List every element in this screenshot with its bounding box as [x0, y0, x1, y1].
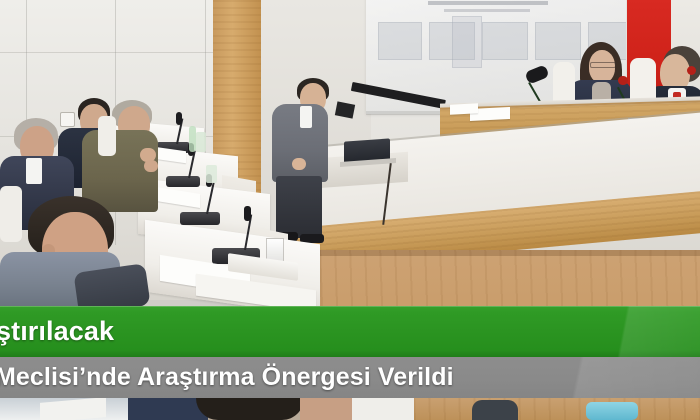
paper-stack — [450, 103, 478, 114]
presidium-woman-glasses — [590, 62, 616, 68]
desk-sliver — [352, 398, 414, 420]
desk-microphone-base — [166, 176, 200, 187]
slide-thumb — [378, 22, 422, 60]
skin-sliver — [300, 398, 352, 420]
chair-base-sliver — [472, 400, 518, 420]
blue-bag-sliver — [586, 402, 638, 420]
kicker-banner: ştırılacak — [0, 306, 700, 357]
wall-socket — [60, 112, 75, 127]
floor-sliver — [414, 398, 700, 420]
water-glass — [206, 165, 217, 183]
delegate-hair-sliver — [196, 398, 304, 420]
headline-banner: Meclisi’nde Araştırma Önergesi Verildi — [0, 357, 700, 398]
standing-man-hand — [292, 158, 306, 170]
slide-subtitle-bar — [444, 9, 530, 12]
news-photo-thumbnail: ştırılacak Meclisi’nde Araştırma Önerges… — [0, 0, 700, 420]
water-glass — [196, 132, 206, 152]
paper-sliver — [40, 398, 106, 420]
water-bottle — [189, 126, 196, 152]
desk-microphone-head — [176, 112, 182, 125]
presidium-mic-head — [687, 66, 696, 75]
slide-row — [452, 16, 482, 68]
standing-man-shirt — [300, 106, 312, 128]
delegate-olive-hand — [144, 160, 158, 172]
headline-text: Meclisi’nde Araştırma Önergesi Verildi — [0, 359, 454, 395]
chair-back — [0, 186, 22, 242]
standing-man-trousers — [276, 176, 322, 238]
desk-microphone-base — [180, 212, 220, 225]
slide-title-bar — [428, 1, 548, 5]
slide-thumb — [535, 22, 581, 60]
wall-seam — [0, 52, 215, 53]
banner-highlight-line — [0, 306, 700, 307]
delegate-grey-shirt — [26, 158, 42, 184]
photo-bottom-strip — [0, 398, 700, 420]
slide-thumb — [482, 22, 528, 60]
desk-microphone-head — [244, 206, 251, 221]
chair-back — [98, 116, 116, 156]
kicker-text: ştırılacak — [0, 312, 114, 350]
presidium-mic-head — [618, 76, 628, 85]
slide-thumb — [452, 16, 482, 68]
